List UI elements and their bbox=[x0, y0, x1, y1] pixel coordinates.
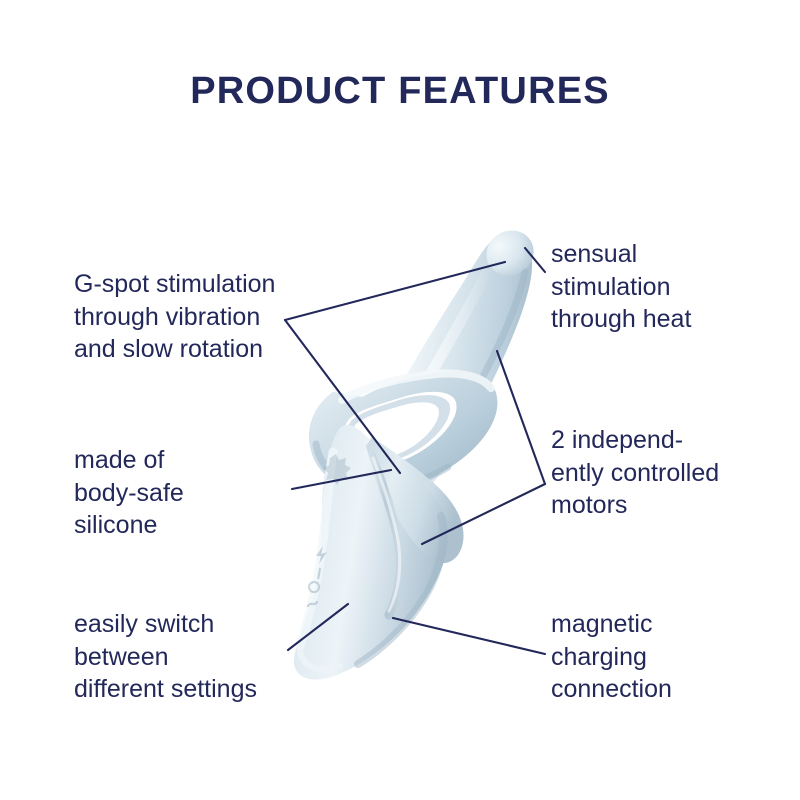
leader-charging bbox=[393, 618, 545, 654]
leader-silicone bbox=[292, 470, 391, 489]
leader-switch-settings bbox=[288, 604, 348, 650]
leader-motors-lower bbox=[422, 484, 545, 544]
leader-g-spot-to-ring bbox=[285, 320, 400, 473]
leader-lines bbox=[0, 0, 800, 800]
leader-g-spot-to-tip bbox=[285, 262, 505, 320]
leader-motors-upper bbox=[497, 351, 545, 484]
product-features-infographic: PRODUCT FEATURES bbox=[0, 0, 800, 800]
leader-heat bbox=[525, 248, 545, 272]
